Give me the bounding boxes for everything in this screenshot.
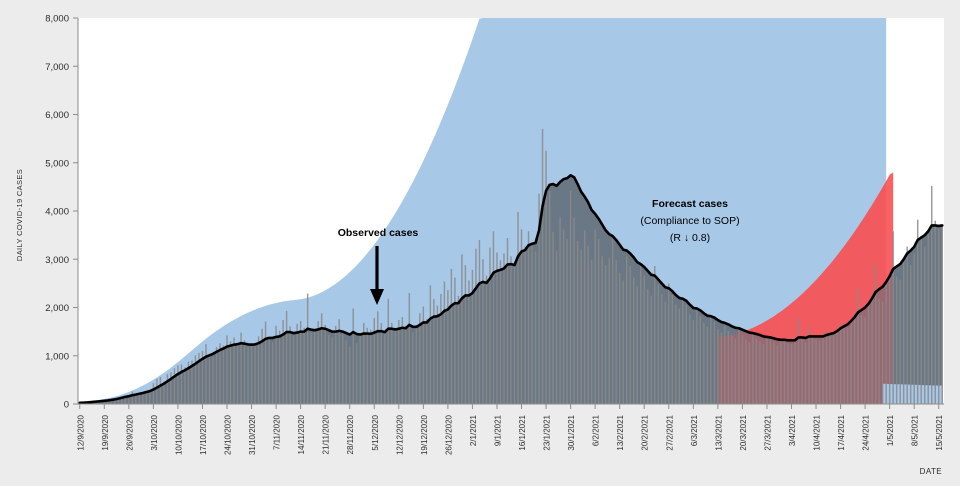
bar [324,325,325,404]
x-axis-title: DATE [920,467,942,476]
bar [342,333,343,404]
bar [619,273,620,404]
bar [230,341,231,404]
bar [598,239,599,404]
bar [419,313,420,404]
x-tick-label: 17/10/2020 [199,414,208,455]
bar [791,344,792,404]
bar [643,276,644,404]
bar [654,266,655,404]
bar [507,238,508,404]
x-tick-label: 23/1/2021 [543,414,552,450]
bar [360,335,361,404]
bar [647,289,648,404]
x-tick-label: 12/12/2020 [395,414,404,455]
bar [247,347,248,404]
y-tick-label: 0 [64,400,69,411]
bar [840,323,841,404]
x-tick-label: 26/12/2020 [444,414,453,455]
bar [461,254,462,404]
bar [812,336,813,404]
bar [878,299,879,404]
x-tick-label: 13/3/2021 [714,414,723,450]
bar [717,329,718,404]
bar [920,236,921,404]
bar [233,337,234,404]
bar [363,323,364,404]
bar [352,308,353,404]
x-tick-label: 2/1/2021 [469,414,478,446]
bar [573,218,574,404]
bar [794,339,795,404]
bar [924,247,925,404]
x-tick-label: 31/10/2020 [248,414,257,455]
bar [219,343,220,404]
bar [938,228,939,404]
bar [377,311,378,404]
bar [629,266,630,404]
forecast-lower-band-area [883,384,943,404]
bar [819,340,820,404]
bar [160,377,161,404]
bar [745,339,746,404]
y-tick-label: 6,000 [45,110,69,121]
bar [223,346,224,404]
bar [489,248,490,404]
bar [268,337,269,404]
bar [167,374,168,404]
bar [433,299,434,404]
bar [917,220,918,404]
x-tick-label: 1/5/2021 [886,414,895,446]
bar [594,229,595,404]
bar [416,326,417,404]
bar [254,344,255,404]
bar [847,329,848,404]
bar [521,229,522,404]
bar [742,335,743,404]
x-tick-label: 12/9/2020 [76,414,85,450]
bar [412,333,413,404]
bar [409,293,410,404]
x-tick-label: 21/11/2020 [322,414,331,454]
bar [658,284,659,404]
bar [370,330,371,404]
bar [451,269,452,404]
bar [682,298,683,404]
bar [205,344,206,404]
bar [472,270,473,404]
bar [563,229,564,404]
bar [703,323,704,404]
bar [244,340,245,404]
x-tick-label: 24/10/2020 [224,414,233,455]
bar [293,335,294,404]
bar [833,335,834,404]
x-tick-label: 30/1/2021 [567,414,576,450]
bar [724,326,725,404]
bar [177,365,178,404]
x-tick-label: 10/4/2021 [813,414,822,450]
bar [927,234,928,404]
bar [468,280,469,404]
bar [896,277,897,404]
bar [808,327,809,404]
bar [615,260,616,404]
bar [882,302,883,404]
bar [286,311,287,404]
bar [265,321,266,404]
x-tick-label: 10/10/2020 [174,414,183,455]
bar [402,317,403,404]
bar [605,265,606,404]
bar [668,283,669,404]
bar [868,305,869,404]
bar [935,221,936,404]
bar [440,294,441,404]
bar [756,338,757,404]
bar [209,355,210,404]
x-tick-label: 8/5/2021 [911,414,920,446]
bar [321,313,322,404]
x-tick-label: 27/3/2021 [763,414,772,450]
bar [307,294,308,404]
x-tick-label: 20/3/2021 [739,414,748,450]
x-tick-label: 6/3/2021 [690,414,699,446]
bar [349,347,350,404]
y-tick-label: 1,000 [45,351,69,362]
bar [805,342,806,404]
bar [787,343,788,404]
bar [892,231,893,404]
bar [731,335,732,404]
bar [766,336,767,404]
bar [128,398,129,404]
x-tick-label: 7/11/2020 [273,414,282,450]
bar [535,252,536,404]
bar [458,296,459,404]
bar [626,256,627,404]
bar [454,278,455,404]
bar [279,331,280,404]
bar [608,258,609,404]
bar [714,322,715,404]
bar [479,240,480,404]
bar [335,326,336,404]
bar [801,340,802,404]
bar [317,321,318,404]
bar [566,239,567,404]
bar [633,278,634,404]
bar [861,315,862,404]
bar [773,342,774,404]
bar [875,264,876,404]
bar [391,323,392,404]
bar [738,330,739,404]
bar [493,231,494,404]
bar [889,275,890,404]
bar [174,368,175,404]
bar [763,344,764,404]
x-tick-label: 19/9/2020 [101,414,110,450]
bar [854,311,855,404]
x-tick-label: 20/2/2021 [641,414,650,450]
bar [815,339,816,404]
x-tick-label: 3/4/2021 [788,414,797,446]
bar [296,324,297,404]
bar [591,260,592,404]
bar [552,232,553,404]
bar [475,249,476,404]
bar [237,344,238,404]
bar [549,191,550,404]
bar [510,256,511,404]
x-tick-label: 17/4/2021 [837,414,846,450]
bar [216,347,217,404]
bar [784,341,785,404]
x-tick-label: 26/9/2020 [125,414,134,450]
bar [587,246,588,404]
bar [906,247,907,404]
x-tick-label: 13/2/2021 [616,414,625,450]
bar [384,334,385,404]
bar [696,308,697,404]
bar [728,331,729,404]
bar [356,343,357,404]
bar [331,337,332,404]
bar [686,305,687,404]
bar [679,308,680,404]
bar [777,345,778,404]
bar [899,280,900,404]
bar [931,186,932,404]
bar [398,320,399,404]
y-axis-title: DAILY COVID-19 CASES [15,169,24,261]
bar [721,333,722,404]
bar [640,266,641,404]
bar [836,331,837,404]
covid-forecast-chart: 01,0002,0003,0004,0005,0006,0007,0008,00… [0,0,960,486]
x-tick-label: 5/12/2020 [371,414,380,450]
bar [426,319,427,404]
x-tick-label: 19/12/2020 [420,414,429,455]
forecast-cases-label-line3: (R ↓ 0.8) [670,232,710,244]
bar [857,289,858,404]
x-tick-label: 28/11/2020 [346,414,355,454]
bar [675,305,676,404]
bar [584,230,585,404]
bar [437,306,438,404]
bar [710,315,711,404]
bar [528,231,529,404]
bar [829,335,830,404]
bar [580,250,581,404]
x-tick-label: 15/5/2021 [935,414,944,450]
bar [170,372,171,404]
bar [423,307,424,404]
bar [405,326,406,404]
bar [665,302,666,404]
x-tick-label: 24/4/2021 [862,414,871,450]
bar [942,226,943,404]
bar [693,320,694,404]
chart-svg: 01,0002,0003,0004,0005,0006,0007,0008,00… [0,0,960,486]
y-tick-label: 5,000 [45,158,69,169]
bar [689,314,690,404]
bar [300,321,301,404]
bar [601,256,602,404]
bar [864,317,865,404]
x-tick-label: 14/11/2020 [297,414,306,454]
bar [822,337,823,404]
bar [514,267,515,404]
bar [258,336,259,404]
bar [381,323,382,404]
bar [651,296,652,404]
bar [444,281,445,404]
y-tick-label: 4,000 [45,207,69,218]
bar [913,253,914,404]
bar [542,129,543,404]
observed-cases-label: Observed cases [338,227,419,239]
bar [780,338,781,404]
bar [559,217,560,404]
bar [570,191,571,404]
bar [612,238,613,404]
bar [500,260,501,404]
bar [156,379,157,404]
bar [622,280,623,404]
x-tick-label: 3/10/2020 [150,414,159,450]
bar [700,316,701,404]
y-tick-label: 8,000 [45,14,69,25]
y-tick-label: 3,000 [45,255,69,266]
bar [871,292,872,404]
y-tick-label: 2,000 [45,303,69,314]
bar [465,265,466,404]
bar [212,357,213,404]
x-tick-label: 16/1/2021 [518,414,527,450]
bar [556,251,557,404]
bar [310,333,311,404]
bar [135,395,136,404]
bar [430,285,431,404]
bar [903,259,904,404]
bar [798,318,799,404]
bar [885,284,886,404]
bar [577,241,578,404]
bar [388,299,389,404]
bar [749,342,750,404]
bar [328,335,329,404]
bar [850,321,851,404]
bar [496,253,497,405]
bar [503,253,504,404]
bar [142,393,143,404]
x-tick-label: 6/2/2021 [592,414,601,446]
forecast-cases-label-line2: (Compliance to SOP) [640,215,739,227]
bar [272,342,273,404]
bar [289,326,290,404]
x-tick-label: 27/2/2021 [665,414,674,450]
forecast-cases-label-line1: Forecast cases [652,198,728,210]
bar [139,394,140,404]
bar [826,331,827,404]
bar [345,340,346,404]
bar [770,340,771,404]
bar [843,328,844,404]
bar [636,286,637,404]
bar [735,338,736,404]
bar [486,276,487,404]
bar [531,246,532,404]
bar [314,330,315,404]
bar [524,247,525,404]
bar [153,383,154,404]
bar [752,334,753,404]
bar [251,343,252,404]
bar [132,391,133,404]
y-tick-label: 7,000 [45,62,69,73]
bar [910,265,911,404]
bar [184,367,185,404]
bar [672,295,673,404]
bar [367,328,368,404]
bar [759,341,760,404]
bar [303,328,304,404]
bar [707,327,708,404]
x-tick-label: 9/1/2021 [493,414,502,446]
bar [661,294,662,404]
bar [517,212,518,404]
bar [395,329,396,404]
